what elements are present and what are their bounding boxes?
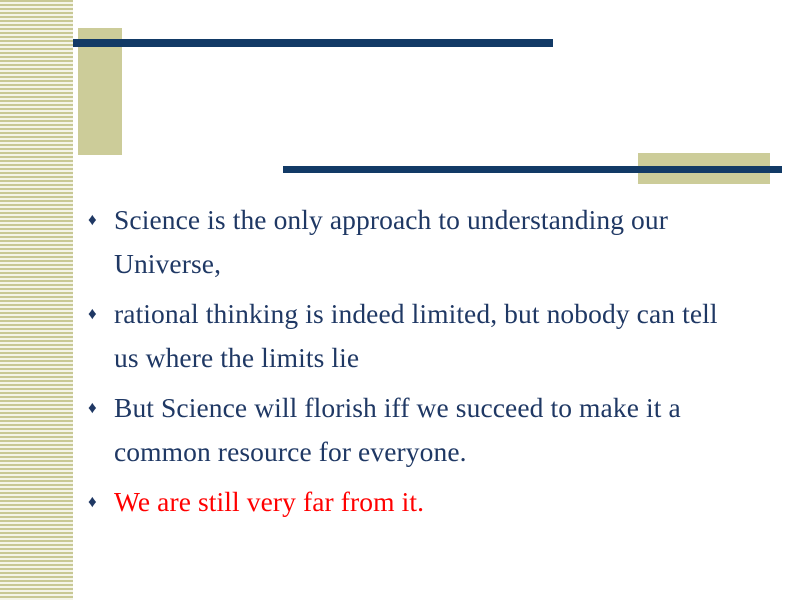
bullet-text: But Science will florish iff we succeed … [114,386,736,474]
bullet-text: rational thinking is indeed limited, but… [114,292,736,380]
diamond-bullet-icon: ♦ [88,198,97,242]
list-item: ♦ Science is the only approach to unders… [86,198,736,286]
list-item: ♦ But Science will florish iff we succee… [86,386,736,474]
bullet-text: We are still very far from it. [114,480,736,524]
diamond-bullet-icon: ♦ [88,386,97,430]
decorative-khaki-block-top-left [78,28,122,155]
diamond-bullet-icon: ♦ [88,480,97,524]
decorative-stripe-band [0,0,73,600]
decorative-navy-rule-top [73,39,553,47]
decorative-navy-rule-second [283,166,782,173]
diamond-bullet-icon: ♦ [88,292,97,336]
list-item: ♦ We are still very far from it. [86,480,736,524]
bullet-text: Science is the only approach to understa… [114,198,736,286]
list-item: ♦ rational thinking is indeed limited, b… [86,292,736,380]
presentation-slide: ♦ Science is the only approach to unders… [0,0,800,600]
slide-bullet-list: ♦ Science is the only approach to unders… [86,198,736,530]
